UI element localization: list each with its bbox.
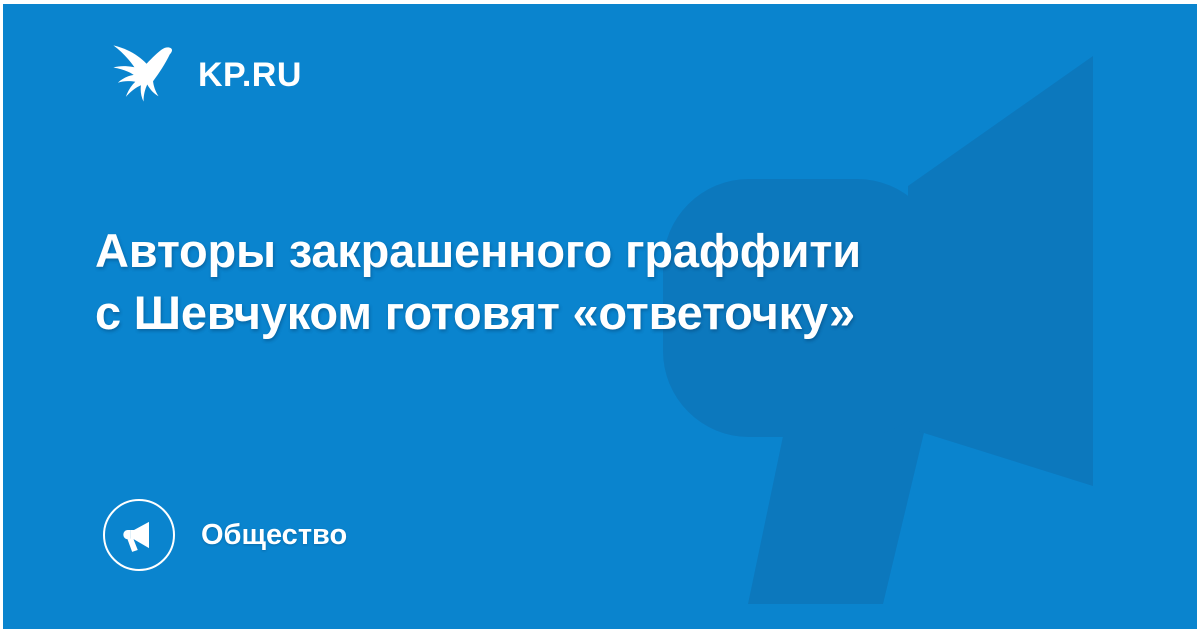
swallow-bird-icon [106, 38, 180, 112]
brand-logo: KP.RU [106, 38, 302, 112]
social-share-card: KP.RU Авторы закрашенного граффити с Шев… [3, 4, 1197, 629]
headline-line-1: Авторы закрашенного граффити [95, 220, 1085, 282]
page-title: Авторы закрашенного граффити с Шевчуком … [95, 220, 1085, 344]
category-badge[interactable]: Общество [103, 499, 347, 571]
headline-line-2: с Шевчуком готовят «ответочку» [95, 282, 1085, 344]
megaphone-icon [103, 499, 175, 571]
brand-name: KP.RU [198, 58, 302, 92]
category-label: Общество [201, 521, 347, 550]
